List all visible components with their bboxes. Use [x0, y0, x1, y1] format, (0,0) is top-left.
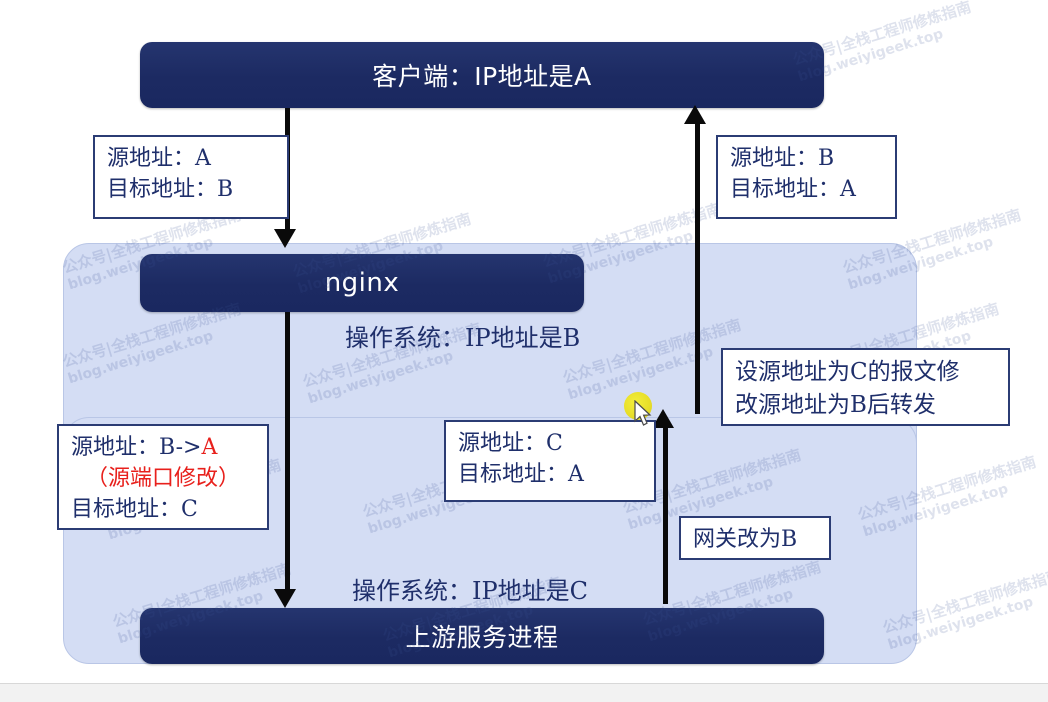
callout-line: 源地址：A: [107, 143, 275, 174]
node-client-label: 客户端：IP地址是A: [372, 57, 592, 93]
callout-line: 改源地址为B后转发: [735, 389, 996, 422]
callout-snat-prefix: 源地址：B->: [71, 435, 201, 460]
callout-line: 网关改为B: [693, 524, 817, 555]
callout-gateway-note: 网关改为B: [679, 516, 831, 560]
callout-line-snat: 源地址：B->A: [71, 432, 255, 463]
callout-nat-note: 源地址：B->A （源端口修改） 目标地址：C: [57, 424, 269, 530]
callout-snat-value: A: [201, 435, 217, 460]
arrow-client-to-nginx-head: [274, 229, 296, 248]
node-nginx-label: nginx: [325, 268, 400, 298]
arrow-nginx-to-upstream-line: [285, 312, 290, 593]
callout-line: 源地址：C: [458, 428, 642, 459]
callout-line: 目标地址：A: [458, 459, 642, 490]
callout-dest-line: 目标地址：C: [71, 494, 255, 525]
diagram-canvas: 公众号|全栈工程师修炼指南 blog.weiyigeek.top 公众号|全栈工…: [0, 0, 1048, 702]
mouse-cursor-icon: [634, 400, 654, 428]
arrow-upstream-to-nginx-line: [663, 428, 668, 604]
os-caption-c: 操作系统：IP地址是C: [352, 571, 588, 606]
callout-rewrite-note: 设源地址为C的报文修 改源地址为B后转发: [721, 348, 1010, 426]
os-caption-b: 操作系统：IP地址是B: [345, 318, 580, 353]
callout-client-to-nginx: 源地址：A 目标地址：B: [93, 135, 289, 219]
callout-line: 源地址：B: [730, 143, 883, 174]
callout-nginx-to-client: 源地址：B 目标地址：A: [716, 135, 897, 219]
node-nginx: nginx: [140, 254, 584, 312]
callout-port-note: （源端口修改）: [71, 463, 255, 494]
node-upstream: 上游服务进程: [140, 608, 824, 664]
arrow-nginx-to-upstream-head: [274, 589, 296, 608]
callout-line: 目标地址：B: [107, 174, 275, 205]
arrow-nginx-to-client-head: [684, 105, 706, 124]
callout-line: 设源地址为C的报文修: [735, 356, 996, 389]
node-upstream-label: 上游服务进程: [405, 618, 558, 654]
node-client: 客户端：IP地址是A: [140, 42, 824, 108]
callout-line: 目标地址：A: [730, 174, 883, 205]
page-bottom-strip: [0, 683, 1048, 702]
arrow-nginx-to-client-line: [695, 124, 700, 414]
callout-upstream-to-nginx: 源地址：C 目标地址：A: [444, 420, 656, 502]
